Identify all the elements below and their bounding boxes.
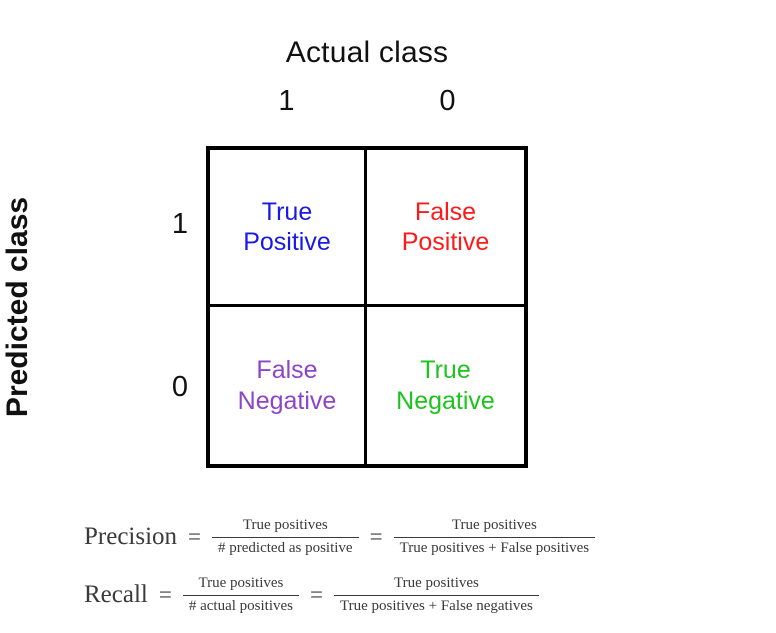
recall-fraction-1: True positives # actual positives	[183, 574, 299, 615]
cell-line-2: Positive	[402, 227, 490, 258]
matrix-cell-true-positive: True Positive	[210, 150, 367, 307]
fraction-denominator: # predicted as positive	[212, 537, 359, 558]
column-label-0: 0	[367, 85, 528, 118]
cell-line-1: False	[238, 355, 337, 386]
cell-line-2: Negative	[396, 386, 495, 417]
confusion-matrix: True Positive False Positive False Negat…	[206, 146, 528, 468]
cell-line-1: True	[396, 355, 495, 386]
precision-label: Precision	[84, 523, 177, 551]
fraction-numerator: True positives	[237, 516, 334, 536]
recall-fraction-2: True positives True positives + False ne…	[334, 574, 539, 615]
recall-formula: Recall = True positives # actual positiv…	[84, 566, 764, 624]
fraction-denominator: # actual positives	[183, 595, 299, 616]
cell-line-1: False	[402, 197, 490, 228]
predicted-class-axis-title: Predicted class	[0, 146, 36, 468]
formula-block: Precision = True positives # predicted a…	[84, 508, 764, 624]
precision-formula: Precision = True positives # predicted a…	[84, 508, 764, 566]
equals-sign: =	[359, 524, 394, 550]
equals-sign: =	[148, 582, 183, 608]
matrix-cell-true-negative: True Negative	[367, 307, 524, 464]
row-label-0: 0	[160, 371, 200, 404]
fraction-denominator: True positives + False positives	[394, 537, 596, 558]
column-label-1: 1	[206, 85, 367, 118]
fraction-denominator: True positives + False negatives	[334, 595, 539, 616]
matrix-cell-false-positive: False Positive	[367, 150, 524, 307]
fraction-numerator: True positives	[388, 574, 485, 594]
precision-fraction-2: True positives True positives + False po…	[394, 516, 596, 557]
fraction-numerator: True positives	[192, 574, 289, 594]
cell-line-2: Positive	[243, 227, 331, 258]
actual-class-axis-title: Actual class	[206, 36, 528, 70]
equals-sign: =	[299, 582, 334, 608]
cell-line-1: True	[243, 197, 331, 228]
precision-fraction-1: True positives # predicted as positive	[212, 516, 359, 557]
row-label-1: 1	[160, 208, 200, 241]
equals-sign: =	[177, 524, 212, 550]
recall-label: Recall	[84, 581, 148, 609]
cell-line-2: Negative	[238, 386, 337, 417]
matrix-cell-false-negative: False Negative	[210, 307, 367, 464]
fraction-numerator: True positives	[446, 516, 543, 536]
